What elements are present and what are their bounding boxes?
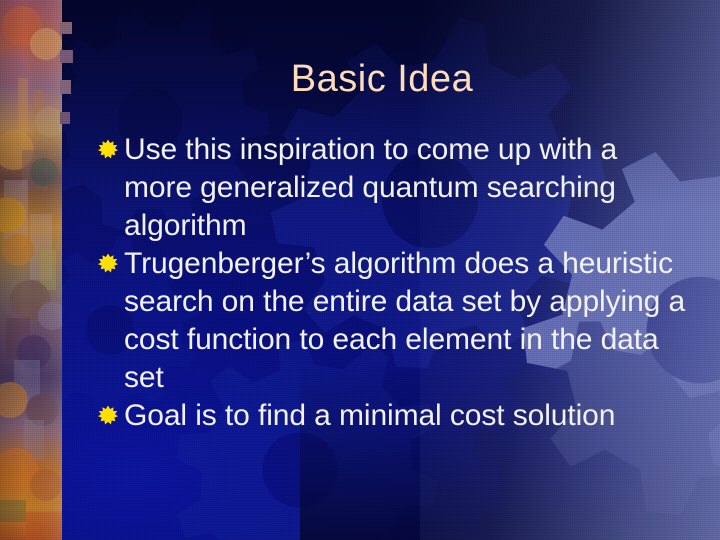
list-item: Use this inspiration to come up with a m… [98,131,690,245]
list-item-label: Use this inspiration to come up with a m… [124,131,690,245]
list-item-label: Goal is to find a minimal cost solution [124,397,690,435]
slide-content: Basic Idea Use this inspiration to come … [0,0,720,540]
starburst-bullet-icon [98,405,118,425]
list-item-label: Trugenberger’s algorithm does a heuristi… [124,245,690,397]
bullet-list: Use this inspiration to come up with a m… [98,131,690,435]
starburst-bullet-icon [98,253,118,273]
presentation-slide: Basic Idea Use this inspiration to come … [0,0,720,540]
starburst-bullet-icon [98,139,118,159]
list-item: Goal is to find a minimal cost solution [98,397,690,435]
list-item: Trugenberger’s algorithm does a heuristi… [98,245,690,397]
page-title: Basic Idea [72,57,692,101]
